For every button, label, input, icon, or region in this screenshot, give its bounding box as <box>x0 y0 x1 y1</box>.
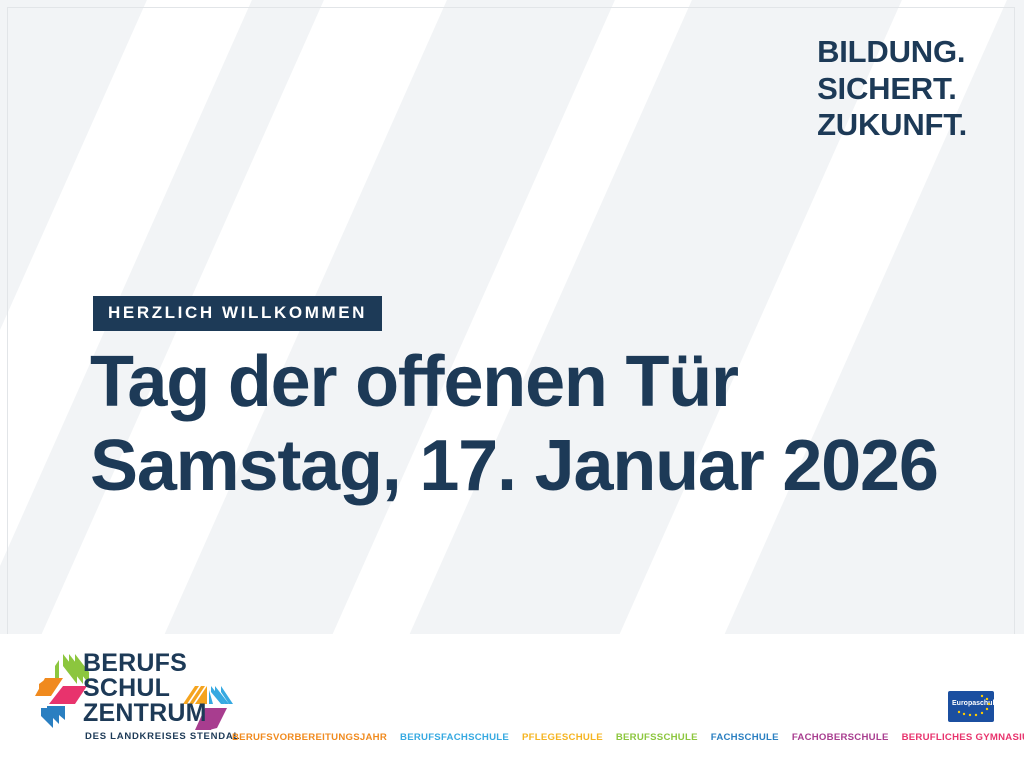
school-type-item: BERUFSVORBEREITUNGSJAHR <box>232 732 387 743</box>
footer: BERUFS SCHUL ZENTRUM DES LANDKREISES STE… <box>0 634 1024 768</box>
logo-wordmark: BERUFS SCHUL ZENTRUM <box>83 651 207 725</box>
logo-subtitle: DES LANDKREISES STENDAL <box>85 731 240 742</box>
logo-word-line-2: SCHUL <box>83 676 207 701</box>
logo-word-line-1: BERUFS <box>83 651 207 676</box>
headline-line-2: Samstag, 17. Januar 2026 <box>90 424 938 508</box>
school-type-item: BERUFSSCHULE <box>616 732 698 743</box>
bsz-logo: BERUFS SCHUL ZENTRUM DES LANDKREISES STE… <box>33 642 243 742</box>
tagline: BILDUNG. SICHERT. ZUKUNFT. <box>817 34 967 144</box>
school-type-item: PFLEGESCHULE <box>522 732 603 743</box>
slide-canvas: BILDUNG. SICHERT. ZUKUNFT. HERZLICH WILL… <box>0 0 1024 768</box>
school-type-item: FACHSCHULE <box>711 732 779 743</box>
tagline-line-1: BILDUNG. <box>817 34 967 71</box>
school-type-item: BERUFSFACHSCHULE <box>400 732 509 743</box>
welcome-badge: HERZLICH WILLKOMMEN <box>93 296 382 331</box>
school-type-item: FACHOBERSCHULE <box>792 732 889 743</box>
school-type-item: BERUFLICHES GYMNASIUM <box>902 732 1024 743</box>
svg-text:Europaschule: Europaschule <box>952 700 994 707</box>
europaschule-badge-icon: Europaschule <box>948 691 994 722</box>
logo-word-line-3: ZENTRUM <box>83 701 207 726</box>
headline-line-1: Tag der offenen Tür <box>90 342 738 422</box>
tagline-line-3: ZUKUNFT. <box>817 107 967 144</box>
tagline-line-2: SICHERT. <box>817 71 967 108</box>
school-type-list: BERUFSVORBEREITUNGSJAHR BERUFSFACHSCHULE… <box>232 732 1024 743</box>
page-title: Tag der offenen Tür Samstag, 17. Januar … <box>90 340 938 508</box>
